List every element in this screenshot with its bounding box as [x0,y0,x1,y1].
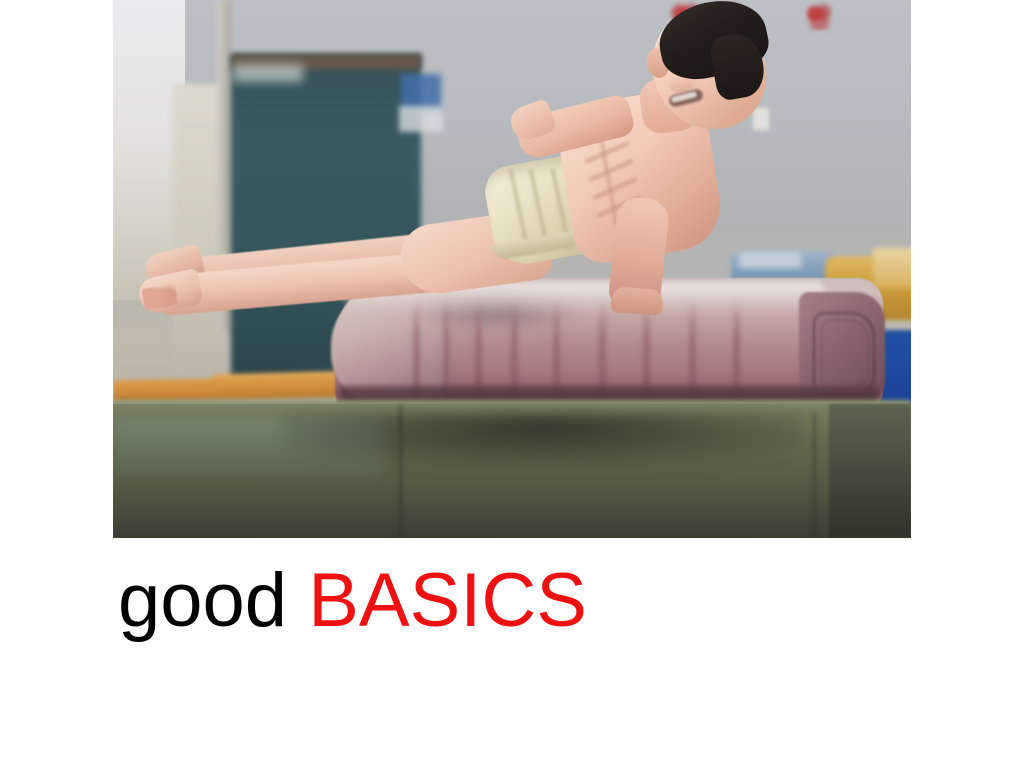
vaulting-horse-wear-3 [475,300,482,398]
gymnast-support-hand [610,286,664,316]
vaulting-horse-wear-5 [553,300,560,398]
caption-space [287,558,308,643]
landing-mat-shadow [283,412,803,466]
equipment-blue-highlight [739,252,801,268]
doorway-light [233,64,303,82]
vaulting-horse-wear-6 [599,300,606,398]
vaulting-horse-wear-1 [413,300,420,398]
presentation-slide: good BASICS [0,0,1024,768]
slide-caption: good BASICS [118,563,587,639]
landing-mat-right-dark [829,404,911,538]
vaulting-horse-wear-4 [511,300,518,398]
gymnastics-training-photo [113,0,911,538]
vaulting-horse-wear-9 [733,300,740,398]
vaulting-horse-end-seam-inner [821,320,869,388]
caption-word-good: good [118,558,287,643]
vaulting-horse-wear-8 [689,300,696,398]
caption-word-basics: BASICS [308,558,587,643]
wall-paper-note [753,108,769,130]
equipment-orange-top [873,248,911,288]
wall-character-3 [806,0,834,30]
landing-mat-seam-right [813,412,816,538]
wall-poster-white [399,106,443,132]
vaulting-horse-wear-2 [443,300,450,398]
